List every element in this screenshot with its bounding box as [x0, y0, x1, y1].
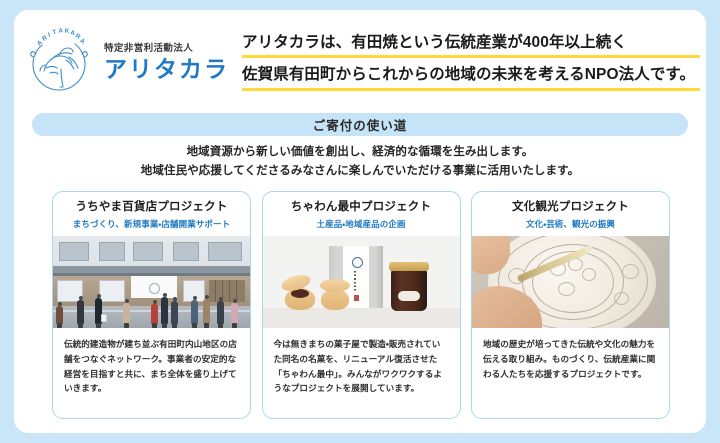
org-name-label: アリタカラ — [104, 56, 229, 82]
project-card[interactable]: 文化観光プロジェクト 文化・芸術、観光の振興 — [471, 191, 670, 419]
card-subtitle: 文化・芸術、観光の振興 — [478, 219, 663, 229]
headline-block: アリタカラは、有田焼という伝統産業が400年以上続く 佐賀県有田町からこれからの… — [242, 32, 700, 97]
card-body: 伝統的建造物が建ち並ぶ有田町内山地区の店舗をつなぐネットワーク。事業者の安定的な… — [53, 328, 250, 418]
card-photo-townscape — [53, 236, 250, 328]
card-title: 文化観光プロジェクト — [478, 201, 663, 215]
page-header: A R I T A K A R A 特定非営利活動法人 アリタカラ — [14, 10, 706, 106]
svg-text:I: I — [47, 31, 52, 38]
card-description: 地域の歴史が培ってきた伝統や文化の魅力を伝える取り組み。ものづくり、伝統産業に関… — [483, 337, 658, 381]
project-card-list: うちやま百貨店プロジェクト まちづくり、新規事業・店舗開業サポート — [52, 191, 670, 419]
donation-use-banner: ご寄付の使い道 — [32, 113, 688, 136]
headline-line-2: 佐賀県有田町からこれからの地域の未来を考えるNPO法人です。 — [242, 64, 700, 90]
donation-use-banner-label: ご寄付の使い道 — [313, 115, 408, 134]
card-description: 伝統的建造物が建ち並ぶ有田町内山地区の店舗をつなぐネットワーク。事業者の安定的な… — [64, 337, 239, 396]
project-card[interactable]: ちゃわん最中プロジェクト 土産品・地域産品の企画 — [262, 191, 461, 419]
headline-line-1: アリタカラは、有田焼という伝統産業が400年以上続く — [242, 32, 700, 58]
project-card[interactable]: うちやま百貨店プロジェクト まちづくり、新規事業・店舗開業サポート — [52, 191, 251, 419]
card-subtitle: 土産品・地域産品の企画 — [269, 219, 454, 229]
aritakara-crane-emblem-icon: A R I T A K A R A — [20, 24, 98, 102]
intro-line-1: 地域資源から新しい価値を創出し、経済的な循環を生み出します。 — [14, 143, 706, 162]
card-subtitle: まちづくり、新規事業・店舗開業サポート — [59, 219, 244, 229]
card-body: 地域の歴史が培ってきた伝統や文化の魅力を伝える取り組み。ものづくり、伝統産業に関… — [472, 328, 669, 418]
card-body: 今は無きまちの菓子屋で製造・販売されていた同名の名菓を、リニューアル復活させた「… — [263, 328, 460, 418]
content-panel: A R I T A K A R A 特定非営利活動法人 アリタカラ — [14, 10, 706, 433]
intro-line-2: 地域住民や応援してくださるみなさんに楽しんでいただける事業に活用いたします。 — [14, 162, 706, 181]
card-description: 今は無きまちの菓子屋で製造・販売されていた同名の名菓を、リニューアル復活させた「… — [274, 337, 449, 396]
card-header: ちゃわん最中プロジェクト 土産品・地域産品の企画 — [263, 192, 460, 236]
org-kind-label: 特定非営利活動法人 — [104, 43, 229, 54]
brand-lockup: A R I T A K A R A 特定非営利活動法人 アリタカラ — [20, 24, 238, 102]
brand-text: 特定非営利活動法人 アリタカラ — [104, 43, 229, 83]
card-title: うちやま百貨店プロジェクト — [59, 201, 244, 215]
card-header: うちやま百貨店プロジェクト まちづくり、新規事業・店舗開業サポート — [53, 192, 250, 236]
card-title: ちゃわん最中プロジェクト — [269, 201, 454, 215]
svg-text:T: T — [52, 29, 58, 37]
card-photo-product — [263, 236, 460, 328]
card-header: 文化観光プロジェクト 文化・芸術、観光の振興 — [472, 192, 669, 236]
card-photo-porcelain-painting — [472, 236, 669, 328]
svg-text:A: A — [58, 27, 64, 34]
intro-paragraph: 地域資源から新しい価値を創出し、経済的な循環を生み出します。 地域住民や応援して… — [14, 143, 706, 181]
